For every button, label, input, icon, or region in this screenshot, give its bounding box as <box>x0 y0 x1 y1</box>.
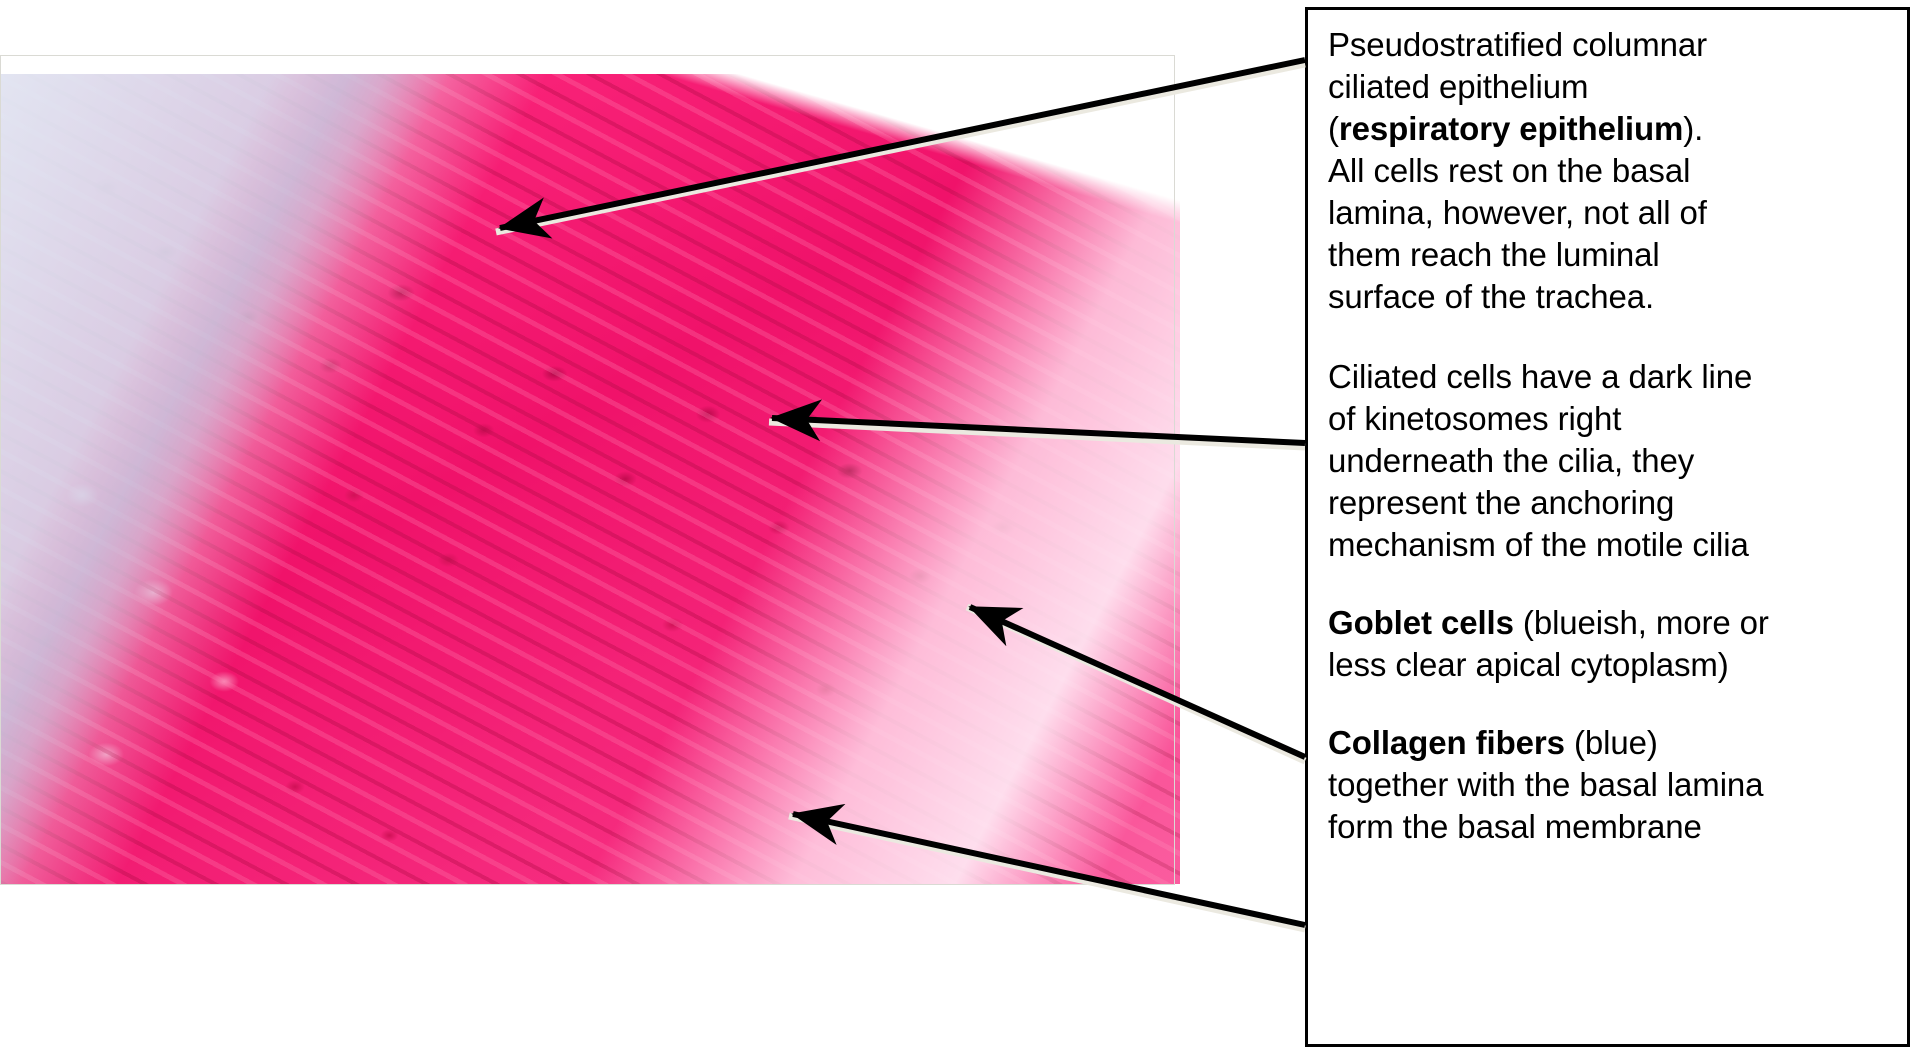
annotation-line: represent the anchoring <box>1328 484 1674 521</box>
annotation-line: (blue) <box>1565 724 1658 761</box>
annotation-line: Ciliated cells have a dark line <box>1328 358 1752 395</box>
annotation-line: (blueish, more or <box>1514 604 1769 641</box>
annotation-text-panel: Pseudostratified columnar ciliated epith… <box>1305 7 1910 1047</box>
annotation-line: ciliated epithelium <box>1328 68 1588 105</box>
annotation-respiratory-epithelium: Pseudostratified columnar ciliated epith… <box>1328 24 1891 318</box>
annotation-line: less clear apical cytoplasm) <box>1328 646 1729 683</box>
annotation-line: form the basal membrane <box>1328 808 1702 845</box>
annotation-collagen-fibers: Collagen fibers (blue) together with the… <box>1328 722 1891 848</box>
trachea-respiratory-epithelium-micrograph <box>0 74 1180 884</box>
annotation-line: of kinetosomes right <box>1328 400 1621 437</box>
annotation-line: together with the basal lamina <box>1328 766 1763 803</box>
annotation-goblet-cells: Goblet cells (blueish, more or less clea… <box>1328 602 1891 686</box>
annotation-line: mechanism of the motile cilia <box>1328 526 1749 563</box>
annotation-line: underneath the cilia, they <box>1328 442 1694 479</box>
annotation-paren-open: ( <box>1328 110 1339 147</box>
annotation-kinetosomes: Ciliated cells have a dark line of kinet… <box>1328 356 1891 566</box>
annotation-term-respiratory-epithelium: respiratory epithelium <box>1339 110 1683 147</box>
annotation-line: All cells rest on the basal <box>1328 152 1690 189</box>
annotation-line: lamina, however, not all of <box>1328 194 1707 231</box>
annotation-term-goblet-cells: Goblet cells <box>1328 604 1514 641</box>
micrograph-container <box>0 60 1180 884</box>
annotation-paren-close: ). <box>1683 110 1703 147</box>
annotation-line: them reach the luminal <box>1328 236 1660 273</box>
annotation-line: Pseudostratified columnar <box>1328 26 1707 63</box>
annotation-term-collagen-fibers: Collagen fibers <box>1328 724 1565 761</box>
annotation-line: surface of the trachea. <box>1328 278 1654 315</box>
figure-root: Pseudostratified columnar ciliated epith… <box>0 0 1920 1058</box>
